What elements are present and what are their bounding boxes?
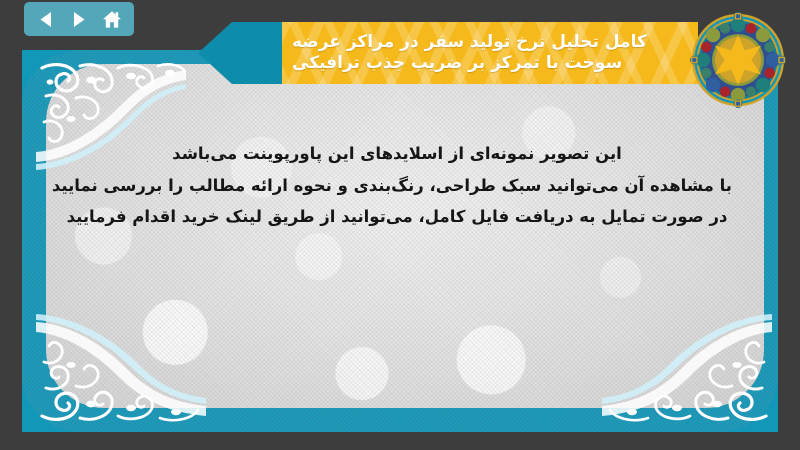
navigation-bar xyxy=(24,2,134,36)
slide-title: کامل تحلیل نرخ تولید سفر در مراکز عرضه س… xyxy=(282,22,698,84)
body-line-2: با مشاهده آن می‌توانید سبک طراحی، رنگ‌بن… xyxy=(62,170,732,202)
slide-body-text: این تصویر نمونه‌ای از اسلایدهای این پاور… xyxy=(62,138,732,233)
title-line-2: سوخت با تمرکز بر ضریب جذب ترافیکی xyxy=(292,53,622,74)
banner-arrow-tail xyxy=(198,22,284,84)
slide-viewer-stage: این تصویر نمونه‌ای از اسلایدهای این پاور… xyxy=(0,0,800,450)
title-line-1: کامل تحلیل نرخ تولید سفر در مراکز عرضه xyxy=(292,32,647,53)
previous-slide-button[interactable] xyxy=(33,7,59,31)
triangle-left-icon xyxy=(38,11,54,28)
body-line-1: این تصویر نمونه‌ای از اسلایدهای این پاور… xyxy=(62,138,732,170)
home-icon xyxy=(102,10,122,29)
body-line-3: در صورت تمایل به دریافت فایل کامل، می‌تو… xyxy=(62,201,732,233)
home-button[interactable] xyxy=(99,7,125,31)
persian-medallion-ornament-icon xyxy=(690,12,786,108)
banner-body: کامل تحلیل نرخ تولید سفر در مراکز عرضه س… xyxy=(282,22,698,84)
slide-canvas xyxy=(46,64,764,408)
slide-frame: این تصویر نمونه‌ای از اسلایدهای این پاور… xyxy=(22,50,778,432)
slide-title-banner: کامل تحلیل نرخ تولید سفر در مراکز عرضه س… xyxy=(198,22,698,84)
triangle-right-icon xyxy=(71,11,87,28)
next-slide-button[interactable] xyxy=(66,7,92,31)
